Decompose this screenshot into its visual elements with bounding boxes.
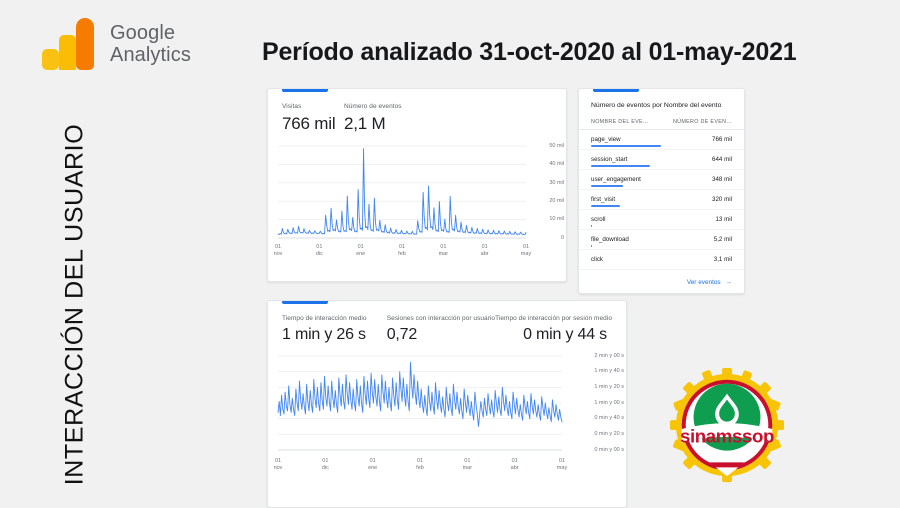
x-axis-tick: 01may [557, 458, 567, 473]
y-axis-tick: 2 min y 00 s [594, 353, 624, 359]
metric-tiempo-interaccion-medio-label: Tiempo de interacción medio [282, 315, 387, 323]
event-name-cell: click [591, 256, 603, 263]
metric-tiempo-interaccion-medio-value: 1 min y 26 s [282, 326, 387, 344]
engagement-chart-plot [268, 350, 624, 458]
y-axis-tick: 50 mil [549, 143, 564, 149]
x-axis-tick: 01feb [398, 244, 406, 259]
card-engagement: Tiempo de interacción medio 1 min y 26 s… [267, 300, 627, 508]
engagement-metrics: Tiempo de interacción medio 1 min y 26 s… [268, 301, 626, 344]
y-axis-tick: 0 min y 00 s [594, 447, 624, 453]
x-axis-tick: 01ene [356, 244, 365, 259]
metric-tiempo-por-sesion-value: 0 min y 44 s [523, 326, 612, 344]
section-label-vertical: INTERACCIÓN DEL USUARIO [61, 105, 90, 505]
table-row[interactable]: file_download5,2 mil [579, 230, 744, 250]
table-row[interactable]: first_visit320 mil [579, 190, 744, 210]
sinamssop-seal-icon: sinamssop [668, 368, 786, 486]
event-name-cell: page_view [591, 136, 621, 143]
metric-visitas: Visitas 766 mil [282, 103, 344, 134]
event-count-cell: 3,1 mil [714, 256, 732, 263]
view-events-link[interactable]: Ver eventos→ [579, 270, 744, 286]
card-visits: Visitas 766 mil Número de eventos 2,1 M … [267, 88, 567, 282]
brand-wordmark: Google Analytics [110, 22, 191, 67]
metric-numero-eventos-value: 2,1 M [344, 114, 402, 134]
x-axis-tick: 01mar [439, 244, 448, 259]
event-count-cell: 644 mil [712, 156, 732, 163]
card-accent-bar [593, 89, 639, 92]
event-name-cell: scroll [591, 216, 605, 223]
metric-tiempo-por-sesion: Tiempo de interacción por sesión medio 0… [495, 315, 612, 344]
metric-tiempo-por-sesion-label: Tiempo de interacción por sesión medio [495, 315, 612, 323]
metric-visitas-label: Visitas [282, 103, 344, 111]
event-count-cell: 320 mil [712, 196, 732, 203]
metric-sesiones-con-interaccion-label: Sesiones con interacción por usuario [387, 315, 495, 323]
visits-chart: 010 mil20 mil30 mil40 mil50 mil [268, 140, 566, 244]
metric-tiempo-interaccion-medio: Tiempo de interacción medio 1 min y 26 s [282, 315, 387, 344]
table-row[interactable]: user_engagement348 mil [579, 170, 744, 190]
y-axis-tick: 0 min y 40 s [594, 415, 624, 421]
y-axis-tick: 20 mil [549, 198, 564, 204]
table-row[interactable]: session_start644 mil [579, 150, 744, 170]
row-bar [591, 145, 661, 147]
table-row[interactable]: click3,1 mil [579, 250, 744, 270]
y-axis-tick: 30 mil [549, 180, 564, 186]
metric-numero-eventos: Número de eventos 2,1 M [344, 103, 402, 134]
column-header-event-name: NOMBRE DEL EVE… [591, 119, 649, 125]
row-bar [591, 205, 620, 207]
x-axis-tick: 01abr [511, 458, 519, 473]
brand-wordmark-line1: Google [110, 22, 191, 44]
table-row[interactable]: scroll13 mil [579, 210, 744, 230]
sinamssop-seal: sinamssop [668, 368, 786, 486]
brand-wordmark-line2: Analytics [110, 44, 191, 66]
metric-sesiones-con-interaccion: Sesiones con interacción por usuario 0,7… [387, 315, 495, 344]
event-name-cell: user_engagement [591, 176, 641, 183]
event-count-cell: 5,2 mil [714, 236, 732, 243]
event-count-cell: 348 mil [712, 176, 732, 183]
x-axis-tick: 01nov [274, 244, 283, 259]
card-events-table: Número de eventos por Nombre del evento … [578, 88, 745, 294]
events-table-body: page_view766 milsession_start644 miluser… [579, 130, 744, 270]
table-row[interactable]: page_view766 mil [579, 130, 744, 150]
event-name-cell: file_download [591, 236, 629, 243]
event-name-cell: first_visit [591, 196, 615, 203]
engagement-chart: 0 min y 00 s0 min y 20 s0 min y 40 s1 mi… [268, 350, 626, 458]
x-axis-tick: 01feb [416, 458, 424, 473]
y-axis-tick: 10 mil [549, 216, 564, 222]
event-count-cell: 766 mil [712, 136, 732, 143]
event-name-cell: session_start [591, 156, 627, 163]
y-axis-tick: 1 min y 00 s [594, 400, 624, 406]
metric-sesiones-con-interaccion-value: 0,72 [387, 326, 495, 344]
view-events-label: Ver eventos [687, 279, 721, 286]
x-axis-tick: 01abr [481, 244, 489, 259]
metric-visitas-value: 766 mil [282, 114, 344, 134]
events-table-header: NOMBRE DEL EVE… NÚMERO DE EVEN… [579, 111, 744, 130]
x-axis-tick: 01ene [368, 458, 377, 473]
x-axis-tick: 01dic [316, 244, 323, 259]
page-title: Período analizado 31-oct-2020 al 01-may-… [262, 38, 862, 67]
y-axis-tick: 0 min y 20 s [594, 431, 624, 437]
x-axis-tick: 01mar [463, 458, 472, 473]
metric-numero-eventos-label: Número de eventos [344, 103, 402, 111]
card-accent-bar [282, 301, 328, 304]
x-axis-tick: 01nov [274, 458, 283, 473]
x-axis-tick: 01dic [322, 458, 329, 473]
visits-metrics: Visitas 766 mil Número de eventos 2,1 M [268, 89, 566, 134]
visits-chart-xaxis: 01nov01dic01ene01feb01mar01abr01may [268, 244, 566, 262]
x-axis-tick: 01may [521, 244, 531, 259]
card-accent-bar [282, 89, 328, 92]
svg-text:sinamssop: sinamssop [680, 426, 774, 447]
row-bar [591, 225, 592, 227]
google-analytics-logo-icon [42, 18, 98, 70]
y-axis-tick: 0 [561, 235, 564, 241]
events-table-title: Número de eventos por Nombre del evento [579, 89, 744, 111]
row-bar [591, 185, 623, 187]
y-axis-tick: 1 min y 20 s [594, 384, 624, 390]
arrow-right-icon: → [726, 279, 732, 286]
engagement-chart-xaxis: 01nov01dic01ene01feb01mar01abr01may [268, 458, 626, 476]
event-count-cell: 13 mil [715, 216, 732, 223]
y-axis-tick: 1 min y 40 s [594, 368, 624, 374]
y-axis-tick: 40 mil [549, 161, 564, 167]
visits-chart-plot [268, 140, 564, 244]
column-header-event-count: NÚMERO DE EVEN… [673, 119, 732, 125]
slide: Google Analytics Período analizado 31-oc… [0, 0, 900, 506]
row-bar [591, 165, 650, 167]
google-analytics-logo: Google Analytics [42, 18, 191, 70]
row-bar [591, 245, 592, 247]
